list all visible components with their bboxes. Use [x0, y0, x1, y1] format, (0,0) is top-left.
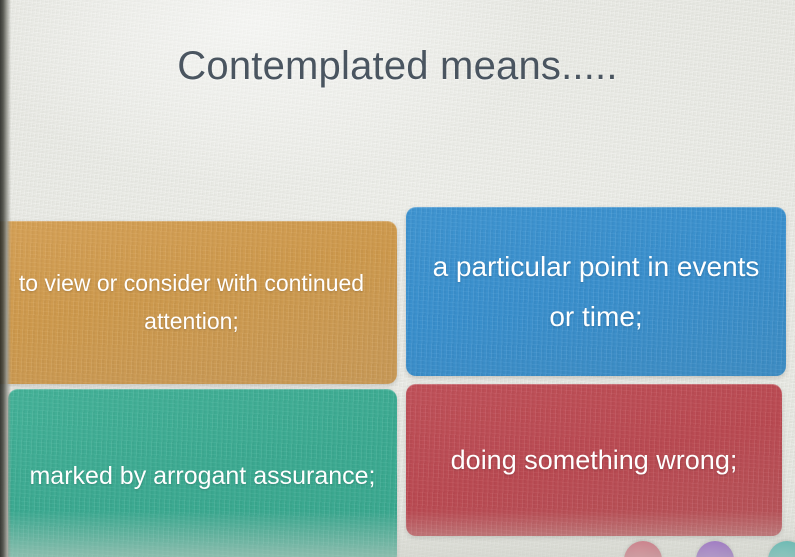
quiz-screen: Contemplated means..... to view or consi…	[0, 0, 795, 557]
circle-button-purple-icon[interactable]	[696, 541, 734, 557]
circle-button-red-icon[interactable]	[624, 541, 662, 557]
answer-option-a-label: to view or consider with continued atten…	[4, 265, 379, 340]
answer-option-c[interactable]: marked by arrogant assurance;	[8, 389, 397, 557]
screen-glare	[0, 0, 541, 189]
circle-button-teal-icon[interactable]	[768, 541, 795, 557]
answer-option-d-label: doing something wrong;	[451, 434, 738, 487]
answer-option-a[interactable]: to view or consider with continued atten…	[0, 221, 397, 384]
answer-option-c-label: marked by arrogant assurance;	[29, 454, 375, 500]
answer-option-b[interactable]: a particular point in events or time;	[406, 207, 786, 376]
question-text: Contemplated means.....	[0, 44, 795, 89]
answer-option-d[interactable]: doing something wrong;	[406, 384, 782, 536]
answer-option-b-label: a particular point in events or time;	[424, 242, 768, 342]
